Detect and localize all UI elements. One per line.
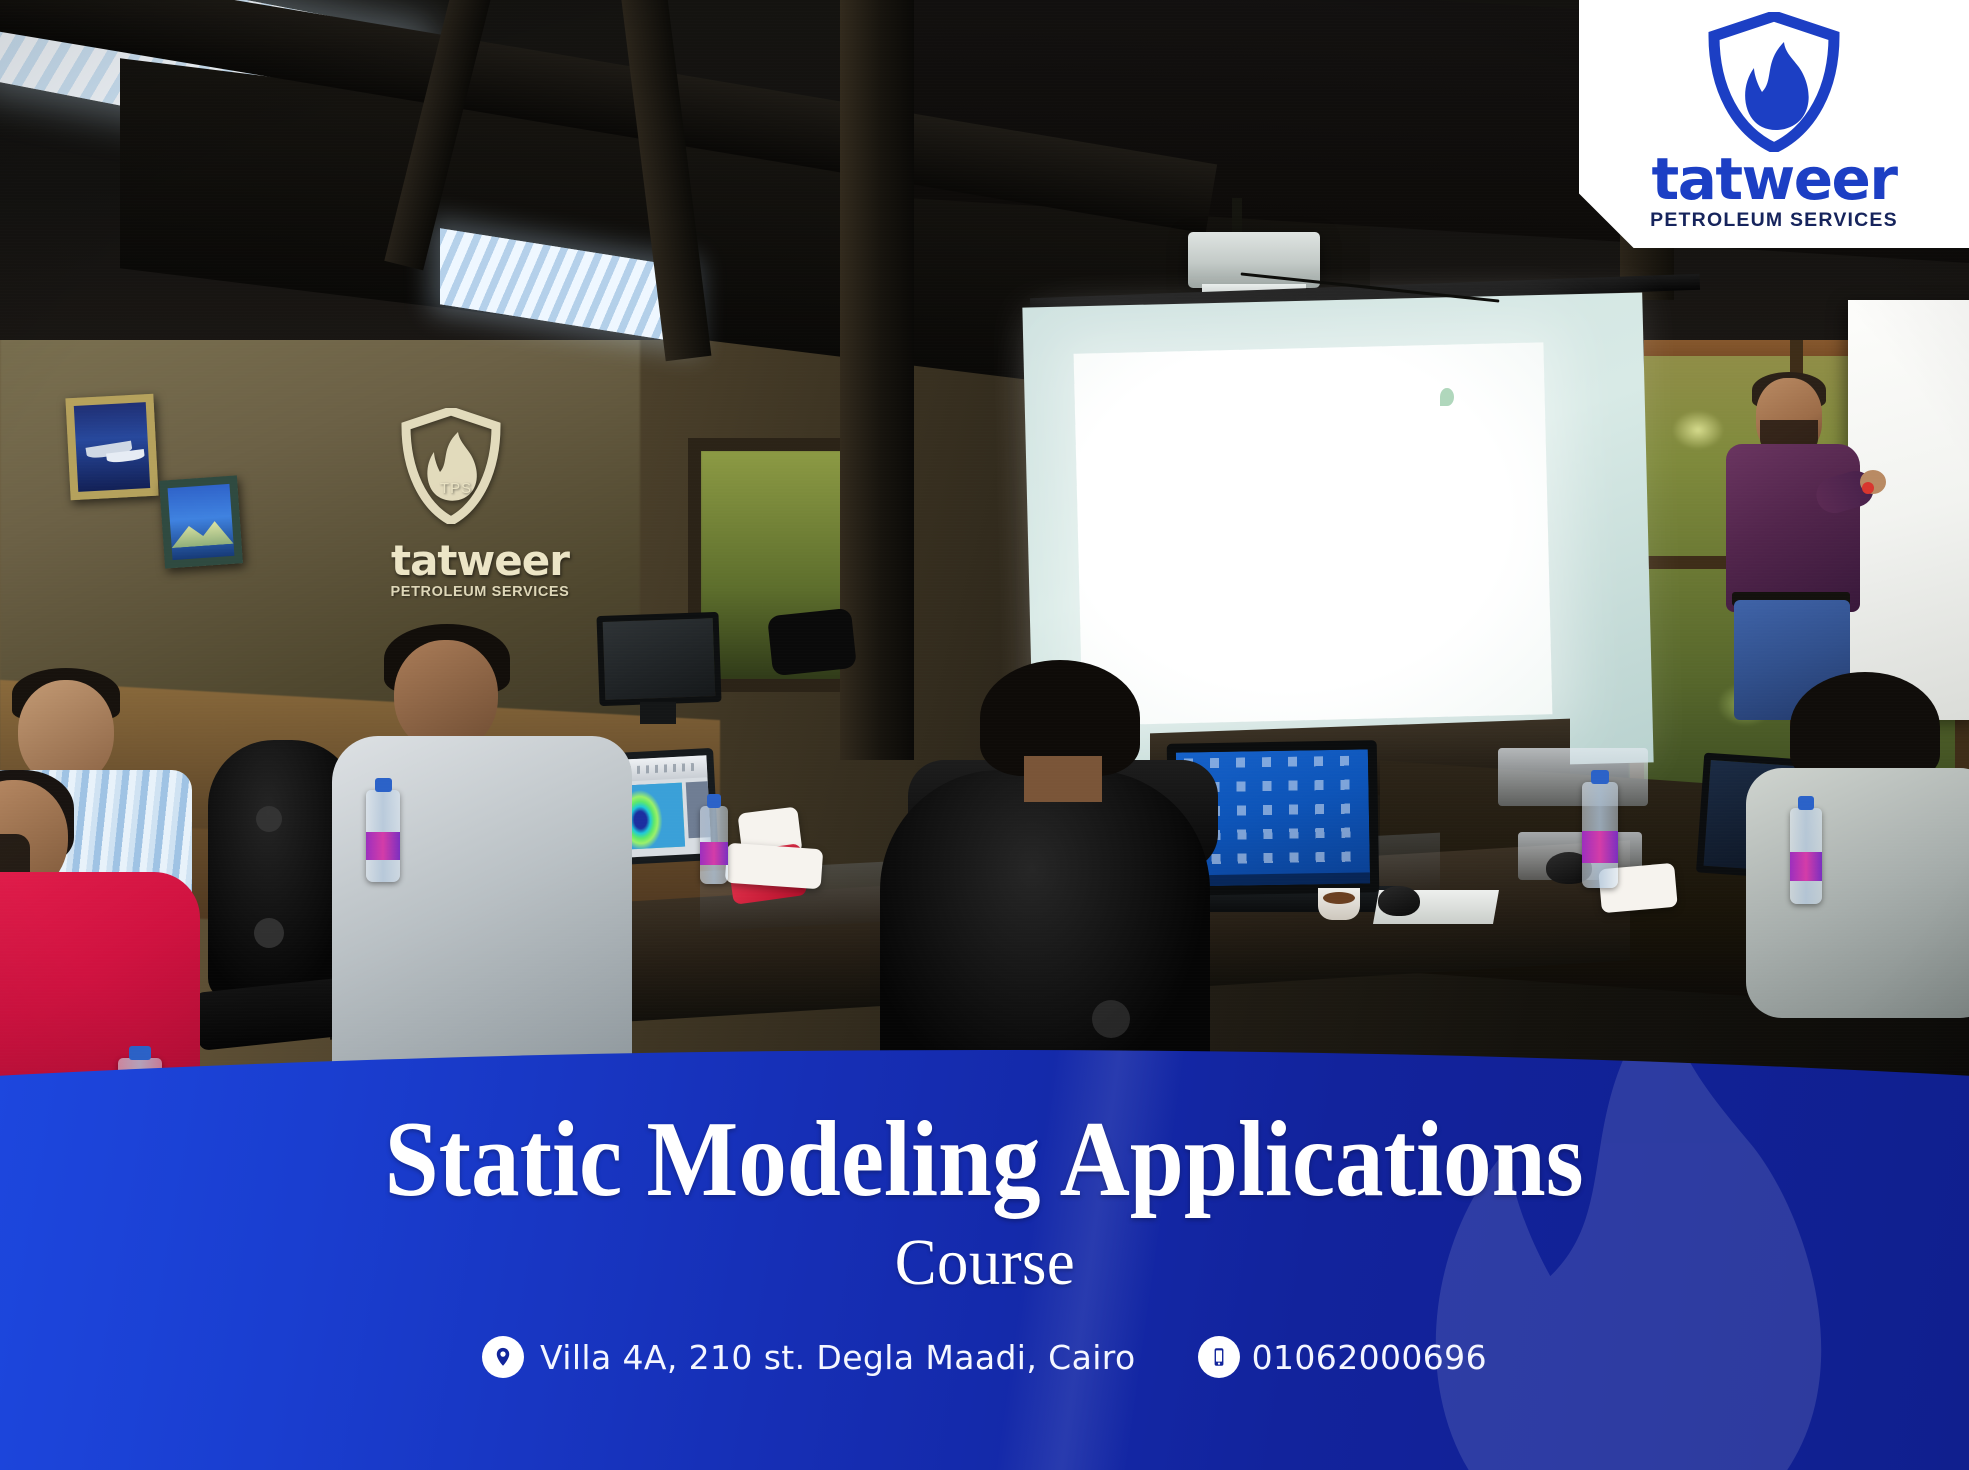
marker-pen: [1862, 482, 1874, 494]
course-subtitle: Course: [894, 1230, 1074, 1296]
projection-screen-marker: [1440, 388, 1454, 406]
instructor-shirt: [1726, 444, 1860, 612]
computer-mouse: [1378, 886, 1420, 916]
chair-adjust-knob: [254, 918, 284, 948]
course-title: Static Modeling Applications: [385, 1106, 1584, 1214]
contact-row: Villa 4A, 210 st. Degla Maadi, Cairo 010…: [482, 1336, 1487, 1378]
phone-text: 01062000696: [1252, 1338, 1487, 1377]
brand-logo-subtitle: PETROLEUM SERVICES: [1650, 209, 1898, 232]
storage-box: [1498, 748, 1648, 806]
chair-adjust-knob: [1092, 1000, 1130, 1038]
bottom-info-banner: Static Modeling Applications Course Vill…: [0, 1050, 1969, 1470]
wall-brand-sign: TPS tatweer PETROLEUM SERVICES: [352, 408, 602, 608]
address-text: Villa 4A, 210 st. Degla Maadi, Cairo: [540, 1338, 1136, 1377]
attendee-center: [940, 660, 1230, 960]
chair-headrest: [767, 608, 857, 676]
brand-logo-word: tatweer: [1652, 152, 1897, 207]
contact-phone[interactable]: 01062000696: [1198, 1336, 1487, 1378]
shield-flame-icon: [1708, 12, 1840, 150]
wall-sign-monogram: TPS: [426, 480, 486, 497]
instructor: [1724, 378, 1874, 708]
mobile-phone-icon: [1198, 1336, 1240, 1378]
boats-painting: [65, 394, 158, 500]
water-bottle: [1790, 808, 1822, 904]
coffee-cup: [1318, 888, 1360, 920]
contact-address[interactable]: Villa 4A, 210 st. Degla Maadi, Cairo: [482, 1336, 1136, 1378]
wall-sign-subtitle: PETROLEUM SERVICES: [370, 584, 590, 600]
water-bottle: [1582, 782, 1618, 888]
monitor-stand: [640, 702, 676, 724]
water-bottle: [700, 806, 728, 884]
napkin: [725, 843, 824, 890]
chair-adjust-knob: [256, 806, 282, 832]
course-promo-poster: TPS tatweer PETROLEUM SERVICES: [0, 0, 1969, 1470]
wall-sign-word: tatweer: [370, 536, 590, 585]
location-pin-icon: [482, 1336, 524, 1378]
brand-logo-badge: tatweer PETROLEUM SERVICES: [1579, 0, 1969, 248]
shield-flame-icon: [400, 408, 502, 524]
landscape-painting: [159, 475, 243, 568]
water-bottle: [366, 790, 400, 882]
